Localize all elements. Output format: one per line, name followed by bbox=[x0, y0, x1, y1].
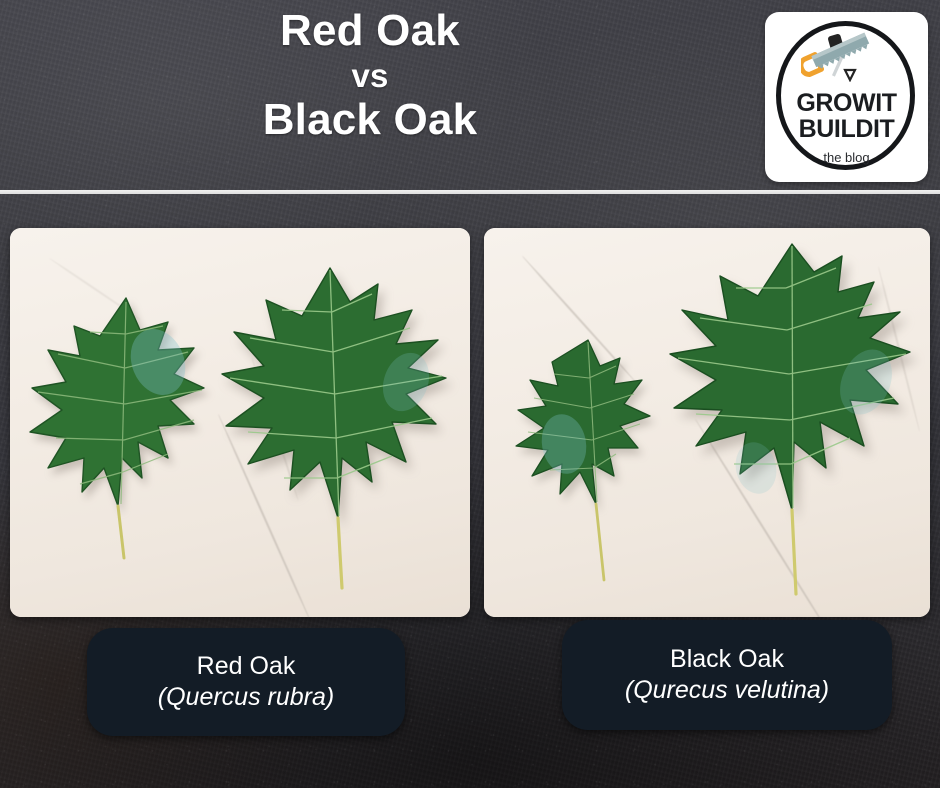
brand-logo[interactable]: GROWIT BUILDIT the blog bbox=[765, 12, 928, 182]
caption-red-oak: Red Oak (Quercus rubra) bbox=[87, 628, 405, 736]
logo-tagline: the blog bbox=[765, 150, 928, 165]
caption-common-name: Black Oak bbox=[562, 644, 892, 675]
leaf-black-oak-small bbox=[504, 332, 664, 602]
page-title: Red Oak vs Black Oak bbox=[0, 8, 740, 143]
leaf-red-oak-small bbox=[18, 286, 228, 576]
logo-word-growit: GROWIT bbox=[765, 91, 928, 117]
photo-red-oak bbox=[10, 228, 470, 617]
caption-black-oak: Black Oak (Qurecus velutina) bbox=[562, 620, 892, 730]
title-line-vs: vs bbox=[0, 59, 740, 93]
oak-comparison-infographic: Red Oak vs Black Oak bbox=[0, 0, 940, 788]
title-line-black-oak: Black Oak bbox=[0, 97, 740, 143]
leaf-red-oak-large bbox=[206, 262, 456, 602]
caption-common-name: Red Oak bbox=[87, 651, 405, 682]
photo-black-oak bbox=[484, 228, 930, 617]
caption-latin-name: (Qurecus velutina) bbox=[562, 675, 892, 706]
logo-tools-icon bbox=[801, 30, 893, 82]
leaf-black-oak-large bbox=[654, 236, 924, 606]
header: Red Oak vs Black Oak bbox=[0, 0, 940, 190]
logo-wordmark: GROWIT BUILDIT the blog bbox=[765, 91, 928, 165]
title-line-red-oak: Red Oak bbox=[0, 8, 740, 54]
logo-word-buildit: BUILDIT bbox=[765, 117, 928, 143]
header-divider bbox=[0, 190, 940, 194]
caption-latin-name: (Quercus rubra) bbox=[87, 682, 405, 713]
